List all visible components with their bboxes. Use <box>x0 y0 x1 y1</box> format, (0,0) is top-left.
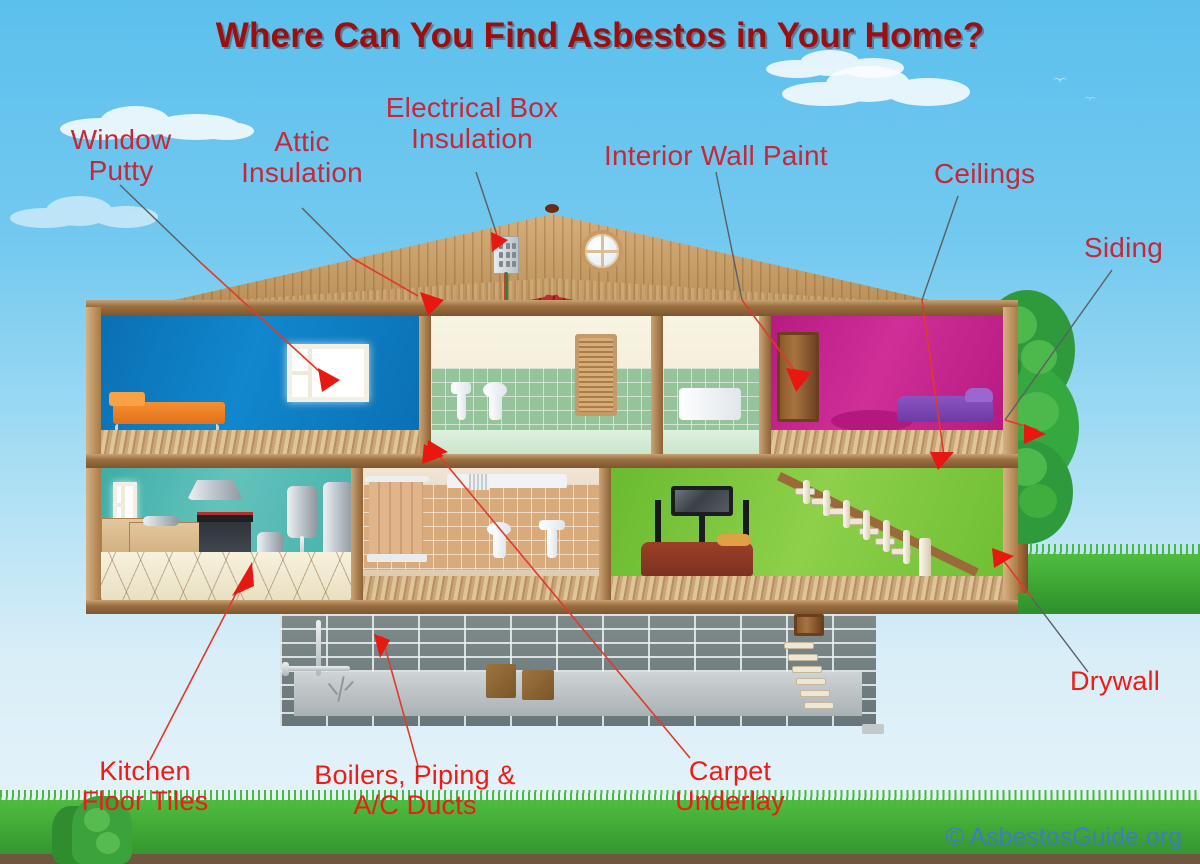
water-heater <box>287 486 317 538</box>
wall-divider <box>651 316 663 454</box>
toilet-lower-base <box>493 532 506 558</box>
speaker-left <box>655 500 661 542</box>
shower-rail <box>365 476 429 482</box>
wall-divider <box>351 468 363 600</box>
room-bathroom-upper <box>431 316 651 454</box>
lower-storey <box>101 468 1003 600</box>
footing <box>862 724 884 734</box>
page-title: Where Can You Find Asbestos in Your Home… <box>0 16 1200 56</box>
floor-lower-bathroom <box>363 576 599 600</box>
room-bathroom-lower <box>363 468 599 600</box>
mid-floor-band <box>86 454 1018 468</box>
bathtub <box>679 388 741 420</box>
interior-door <box>777 332 819 422</box>
wall-divider <box>599 468 611 600</box>
infographic-canvas: Where Can You Find Asbestos in Your Home… <box>0 0 1200 864</box>
room-living <box>611 468 1003 600</box>
room-bedroom-magenta <box>771 316 1003 454</box>
pillow-orange <box>109 392 145 406</box>
room-bedroom-blue <box>101 316 419 454</box>
label-electrical-box-insulation: Electrical Box Insulation <box>366 92 578 155</box>
ground-floor-band <box>86 600 1018 614</box>
kitchen-floor-tiles <box>101 552 351 600</box>
sink-lower-pedestal <box>547 528 557 558</box>
house-cutaway <box>86 182 1018 614</box>
sofa-brown <box>641 542 753 576</box>
floor-upper-bedroom <box>101 430 419 454</box>
roof <box>86 182 1018 307</box>
label-interior-wall-paint: Interior Wall Paint <box>604 140 828 171</box>
label-drywall: Drywall <box>1070 666 1200 696</box>
storage-box <box>486 664 516 698</box>
label-ceilings: Ceilings <box>934 158 1035 189</box>
storage-box <box>522 670 554 700</box>
television <box>671 486 733 516</box>
floor-upper-bathroom <box>431 430 651 454</box>
label-attic-insulation: Attic Insulation <box>216 126 388 189</box>
floor-upper-magenta <box>771 430 1003 454</box>
bird-icon <box>1084 97 1097 104</box>
upper-storey <box>101 316 1003 454</box>
sofa-pillow-purple <box>965 388 993 402</box>
label-boilers-piping-ac-ducts: Boilers, Piping & A/C Ducts <box>296 760 534 820</box>
basement-horizontal-pipe <box>284 666 350 671</box>
label-window-putty: Window Putty <box>46 124 196 187</box>
electrical-box <box>493 236 519 274</box>
toilet-base <box>489 394 502 420</box>
cat <box>717 534 751 546</box>
cooktop <box>197 512 253 522</box>
kitchen-sink <box>143 516 179 526</box>
tv-stand <box>699 516 705 542</box>
label-carpet-underlay: Carpet Underlay <box>636 756 824 816</box>
wall-divider <box>419 316 431 454</box>
wall-divider <box>759 316 771 454</box>
staircase <box>781 472 981 576</box>
floor-upper-bathroom-tub <box>663 430 759 454</box>
range-hood <box>187 480 243 500</box>
floor-living-room <box>611 576 1003 600</box>
room-kitchen <box>101 468 351 600</box>
towel-radiator <box>469 474 489 490</box>
roof-peak-cap <box>545 204 559 213</box>
louvre-door <box>575 334 617 416</box>
basement-floor <box>294 672 862 716</box>
window-upper-bedroom <box>287 344 369 402</box>
basement-pipe-valve <box>282 662 289 676</box>
room-bathroom-upper-tub <box>663 316 759 454</box>
basement <box>280 614 876 726</box>
cloud-right <box>782 66 972 108</box>
watermark: © AsbestosGuide.org <box>945 823 1182 852</box>
label-siding: Siding <box>1084 232 1163 263</box>
mirror <box>447 474 567 488</box>
shower-curtain <box>369 480 423 556</box>
bird-icon <box>1052 78 1068 87</box>
soil-layer-top <box>0 854 1200 864</box>
label-kitchen-floor-tiles: Kitchen Floor Tiles <box>50 756 240 816</box>
sink-pedestal <box>457 392 466 420</box>
attic-round-window <box>581 230 623 272</box>
stair-newel <box>919 538 931 578</box>
basement-door <box>794 614 824 636</box>
shower-tray <box>367 554 427 562</box>
attic-floor-band <box>86 300 1018 316</box>
